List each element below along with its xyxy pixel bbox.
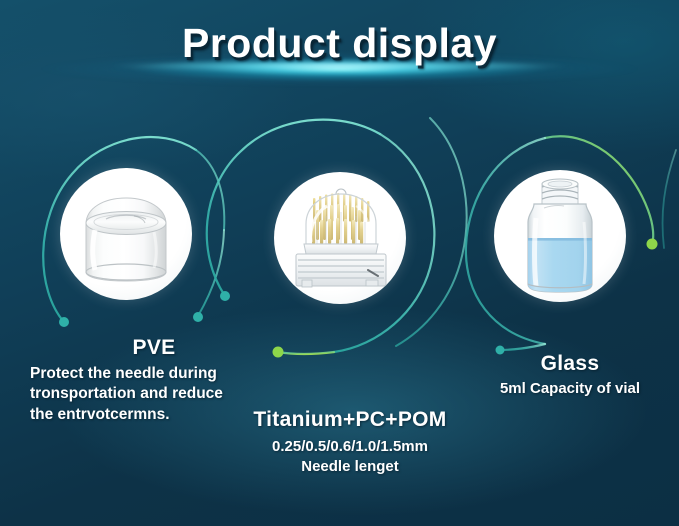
product-description-pve-line2: tronsportation and reduce <box>30 385 223 402</box>
product-description-glass: 5ml Capacity of vial <box>470 379 670 399</box>
microneedle-cartridge-image <box>292 182 390 294</box>
arc-endpoint-dot <box>220 291 230 301</box>
label-glass: Glass 5ml Capacity of vial <box>470 352 670 399</box>
product-heading-needle: Titanium+PC+POM <box>205 408 495 432</box>
arc-endpoint-dot <box>273 347 284 358</box>
pve-protective-cap-image <box>78 194 174 284</box>
product-display-banner: Product display <box>0 0 679 526</box>
product-spec-needle: 0.25/0.5/0.6/1.0/1.5mm <box>205 437 495 457</box>
glass-vial-image <box>514 178 606 296</box>
arc-endpoint-dot <box>193 312 203 322</box>
arc-endpoint-dot <box>647 239 658 250</box>
product-heading-glass: Glass <box>470 352 670 376</box>
product-description-pve-line1: Protect the needle during <box>30 365 217 382</box>
product-heading-pve: PVE <box>48 336 260 360</box>
product-spec-caption-needle: Needle lenget <box>205 457 495 477</box>
label-needle: Titanium+PC+POM 0.25/0.5/0.6/1.0/1.5mm N… <box>205 408 495 477</box>
product-description-pve-line3: the entrvotcermns. <box>30 406 170 423</box>
page-title: Product display <box>0 20 679 67</box>
arc-endpoint-dot <box>59 317 69 327</box>
